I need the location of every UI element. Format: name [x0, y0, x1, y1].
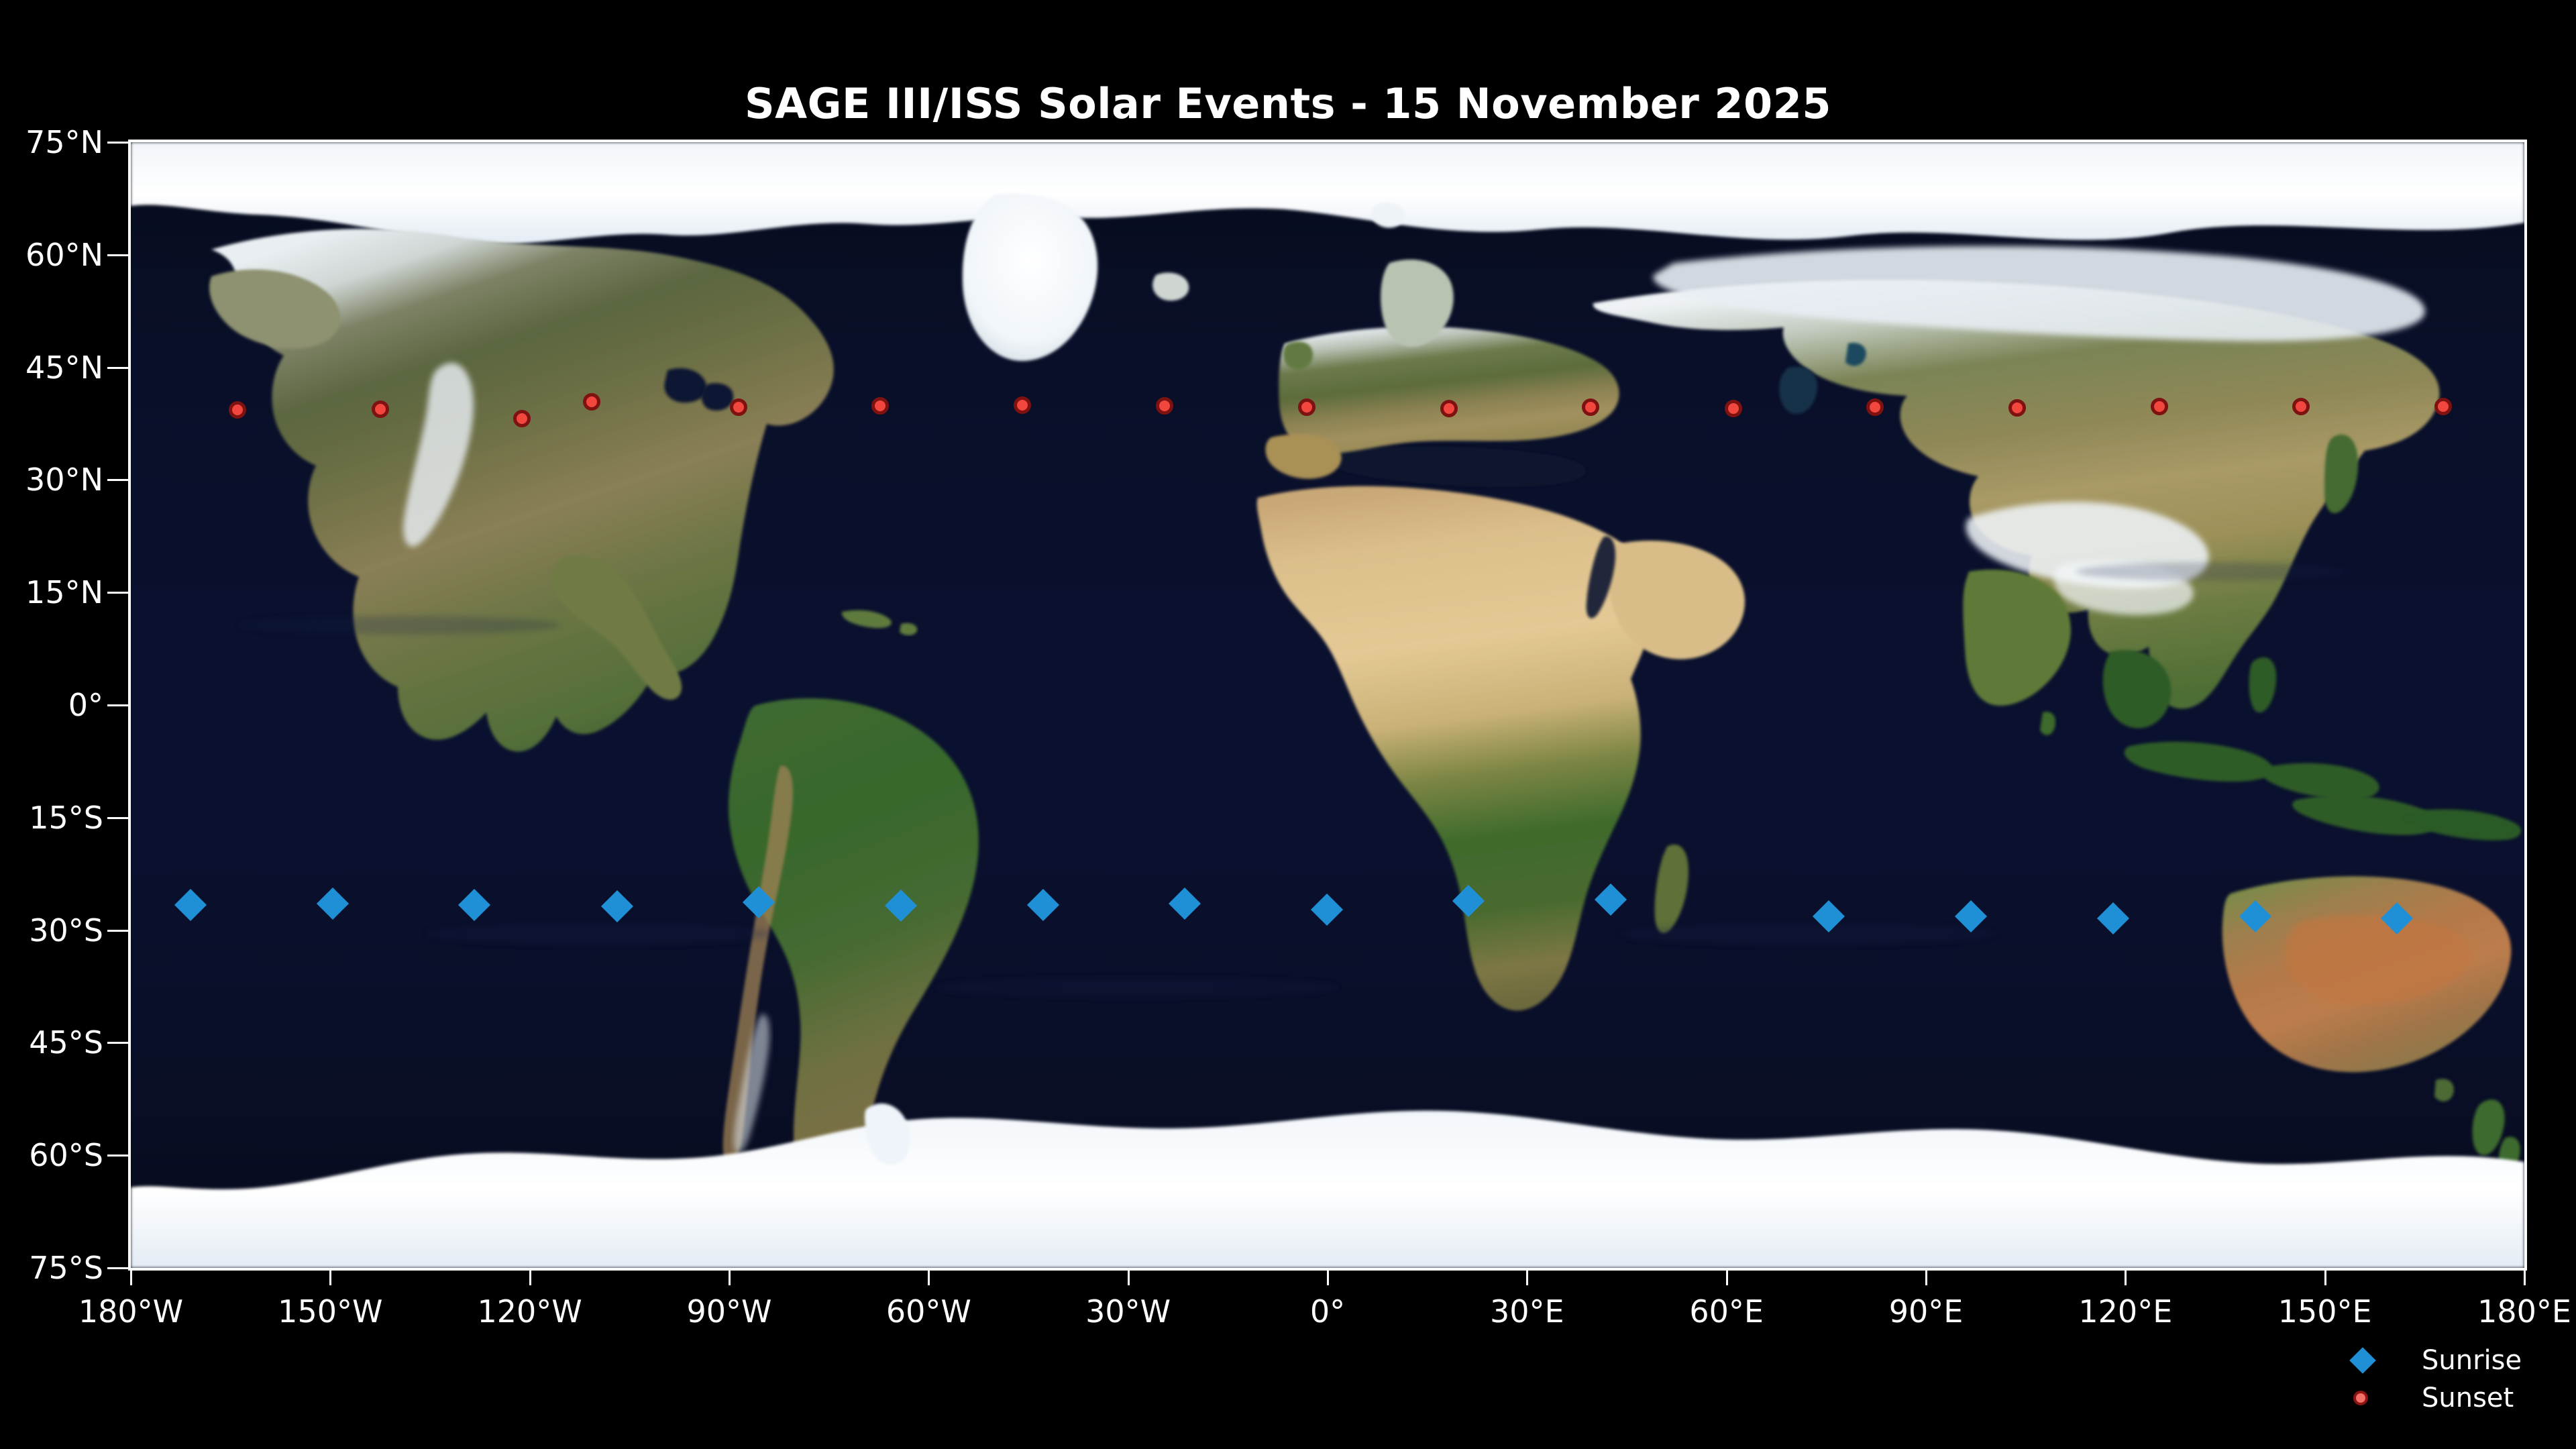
sunset-circle-icon	[2353, 1391, 2368, 1405]
sunset-marker[interactable]	[1440, 400, 1458, 417]
sunset-marker[interactable]	[2434, 398, 2452, 415]
sunset-marker[interactable]	[583, 393, 600, 411]
x-axis-label: 60°W	[886, 1293, 971, 1330]
sunset-marker[interactable]	[2008, 399, 2026, 417]
sunset-marker[interactable]	[1014, 396, 1031, 414]
x-axis-tick	[130, 1268, 132, 1285]
y-axis-label: 75°N	[25, 124, 103, 160]
x-axis-tick	[729, 1268, 731, 1285]
x-axis-label: 0°	[1310, 1293, 1345, 1330]
x-axis-label: 60°E	[1689, 1293, 1764, 1330]
sunset-marker[interactable]	[1582, 398, 1599, 416]
x-axis-label: 180°E	[2477, 1293, 2571, 1330]
x-axis-tick	[2324, 1268, 2326, 1285]
y-axis-tick	[107, 817, 129, 819]
x-axis-tick	[529, 1268, 531, 1285]
y-axis-tick	[107, 704, 129, 706]
x-axis-label: 120°W	[478, 1293, 582, 1330]
x-axis-label: 120°E	[2078, 1293, 2172, 1330]
sunset-marker[interactable]	[1866, 398, 1884, 416]
x-axis-label: 30°E	[1490, 1293, 1564, 1330]
x-axis-tick	[1726, 1268, 1728, 1285]
x-axis-label: 90°W	[686, 1293, 771, 1330]
x-axis-tick	[2524, 1268, 2526, 1285]
blue-marble-basemap	[131, 142, 2524, 1268]
x-axis-tick	[1925, 1268, 1927, 1285]
y-axis-tick	[107, 142, 129, 144]
x-axis-label: 90°E	[1889, 1293, 1964, 1330]
sunrise-diamond-icon	[2349, 1347, 2376, 1374]
sunset-marker[interactable]	[1725, 400, 1742, 417]
x-axis-tick	[1327, 1268, 1329, 1285]
y-axis-label: 0°	[68, 687, 103, 723]
legend-label-sunset: Sunset	[2422, 1383, 2514, 1413]
sunset-marker[interactable]	[1298, 398, 1316, 416]
y-axis-label: 75°S	[29, 1250, 103, 1286]
x-axis-label: 150°W	[278, 1293, 382, 1330]
y-axis-label: 30°S	[29, 912, 103, 949]
figure-root: SAGE III/ISS Solar Events - 15 November …	[0, 0, 2576, 1449]
legend: Sunrise Sunset	[2334, 1343, 2563, 1417]
sunset-marker[interactable]	[871, 397, 889, 415]
y-axis-tick	[107, 1042, 129, 1044]
sunset-marker[interactable]	[372, 400, 389, 418]
x-axis-label: 150°E	[2278, 1293, 2372, 1330]
legend-entry-sunset[interactable]: Sunset	[2334, 1381, 2563, 1415]
y-axis-tick	[107, 930, 129, 932]
legend-label-sunrise: Sunrise	[2422, 1345, 2522, 1376]
x-axis-tick	[1128, 1268, 1130, 1285]
sunset-marker[interactable]	[730, 398, 747, 416]
y-axis-label: 60°S	[29, 1137, 103, 1173]
y-axis-label: 15°S	[29, 800, 103, 836]
x-axis-tick	[1526, 1268, 1528, 1285]
sunset-marker[interactable]	[2292, 398, 2310, 415]
y-axis-label: 60°N	[25, 237, 103, 273]
x-axis-tick	[928, 1268, 930, 1285]
x-axis-tick	[329, 1268, 331, 1285]
y-axis-label: 30°N	[25, 462, 103, 498]
x-axis-tick	[2125, 1268, 2127, 1285]
y-axis-label: 15°N	[25, 574, 103, 610]
sunset-marker[interactable]	[229, 401, 246, 419]
y-axis-tick	[107, 254, 129, 256]
page-title: SAGE III/ISS Solar Events - 15 November …	[0, 79, 2576, 128]
legend-entry-sunrise[interactable]: Sunrise	[2334, 1343, 2563, 1378]
map-plot-area[interactable]	[131, 142, 2524, 1268]
x-axis-label: 180°W	[78, 1293, 183, 1330]
y-axis-label: 45°N	[25, 350, 103, 386]
sunset-marker[interactable]	[1156, 397, 1173, 415]
y-axis-tick	[107, 1155, 129, 1157]
y-axis-tick	[107, 592, 129, 594]
y-axis-tick	[107, 367, 129, 369]
sunset-marker[interactable]	[513, 410, 531, 427]
y-axis-tick	[107, 479, 129, 481]
y-axis-tick	[107, 1267, 129, 1269]
sunset-marker[interactable]	[2151, 398, 2168, 415]
x-axis-label: 30°W	[1085, 1293, 1171, 1330]
y-axis-label: 45°S	[29, 1024, 103, 1061]
